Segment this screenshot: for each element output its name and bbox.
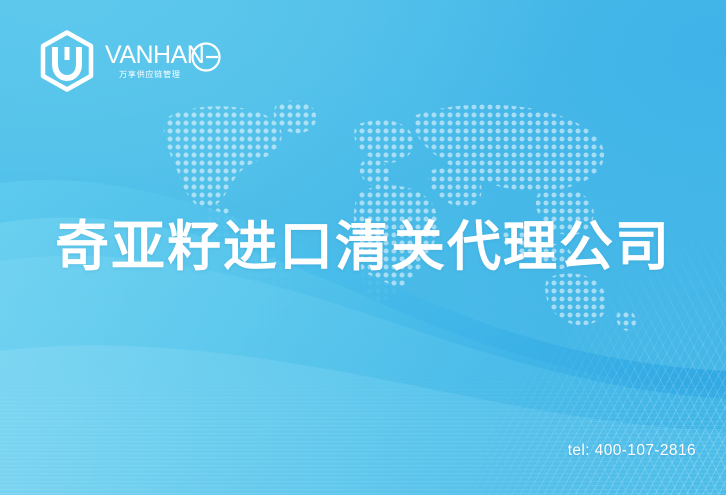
- logo-subtitle-cn: 万享供应链管理: [119, 69, 181, 79]
- page-title: 奇亚籽进口清关代理公司: [0, 216, 726, 278]
- svg-text:VANHAN: VANHAN: [105, 41, 204, 69]
- hexagon-u-mark-icon: [38, 30, 96, 92]
- company-logo: VANHAN 万享供应链管理: [38, 30, 223, 92]
- promotional-banner: VANHAN 万享供应链管理 奇亚籽进口清关代理公司 tel: 400-107-…: [0, 0, 726, 495]
- contact-phone[interactable]: tel: 400-107-2816: [568, 442, 696, 460]
- logo-wordmark: VANHAN 万享供应链管理: [105, 38, 223, 84]
